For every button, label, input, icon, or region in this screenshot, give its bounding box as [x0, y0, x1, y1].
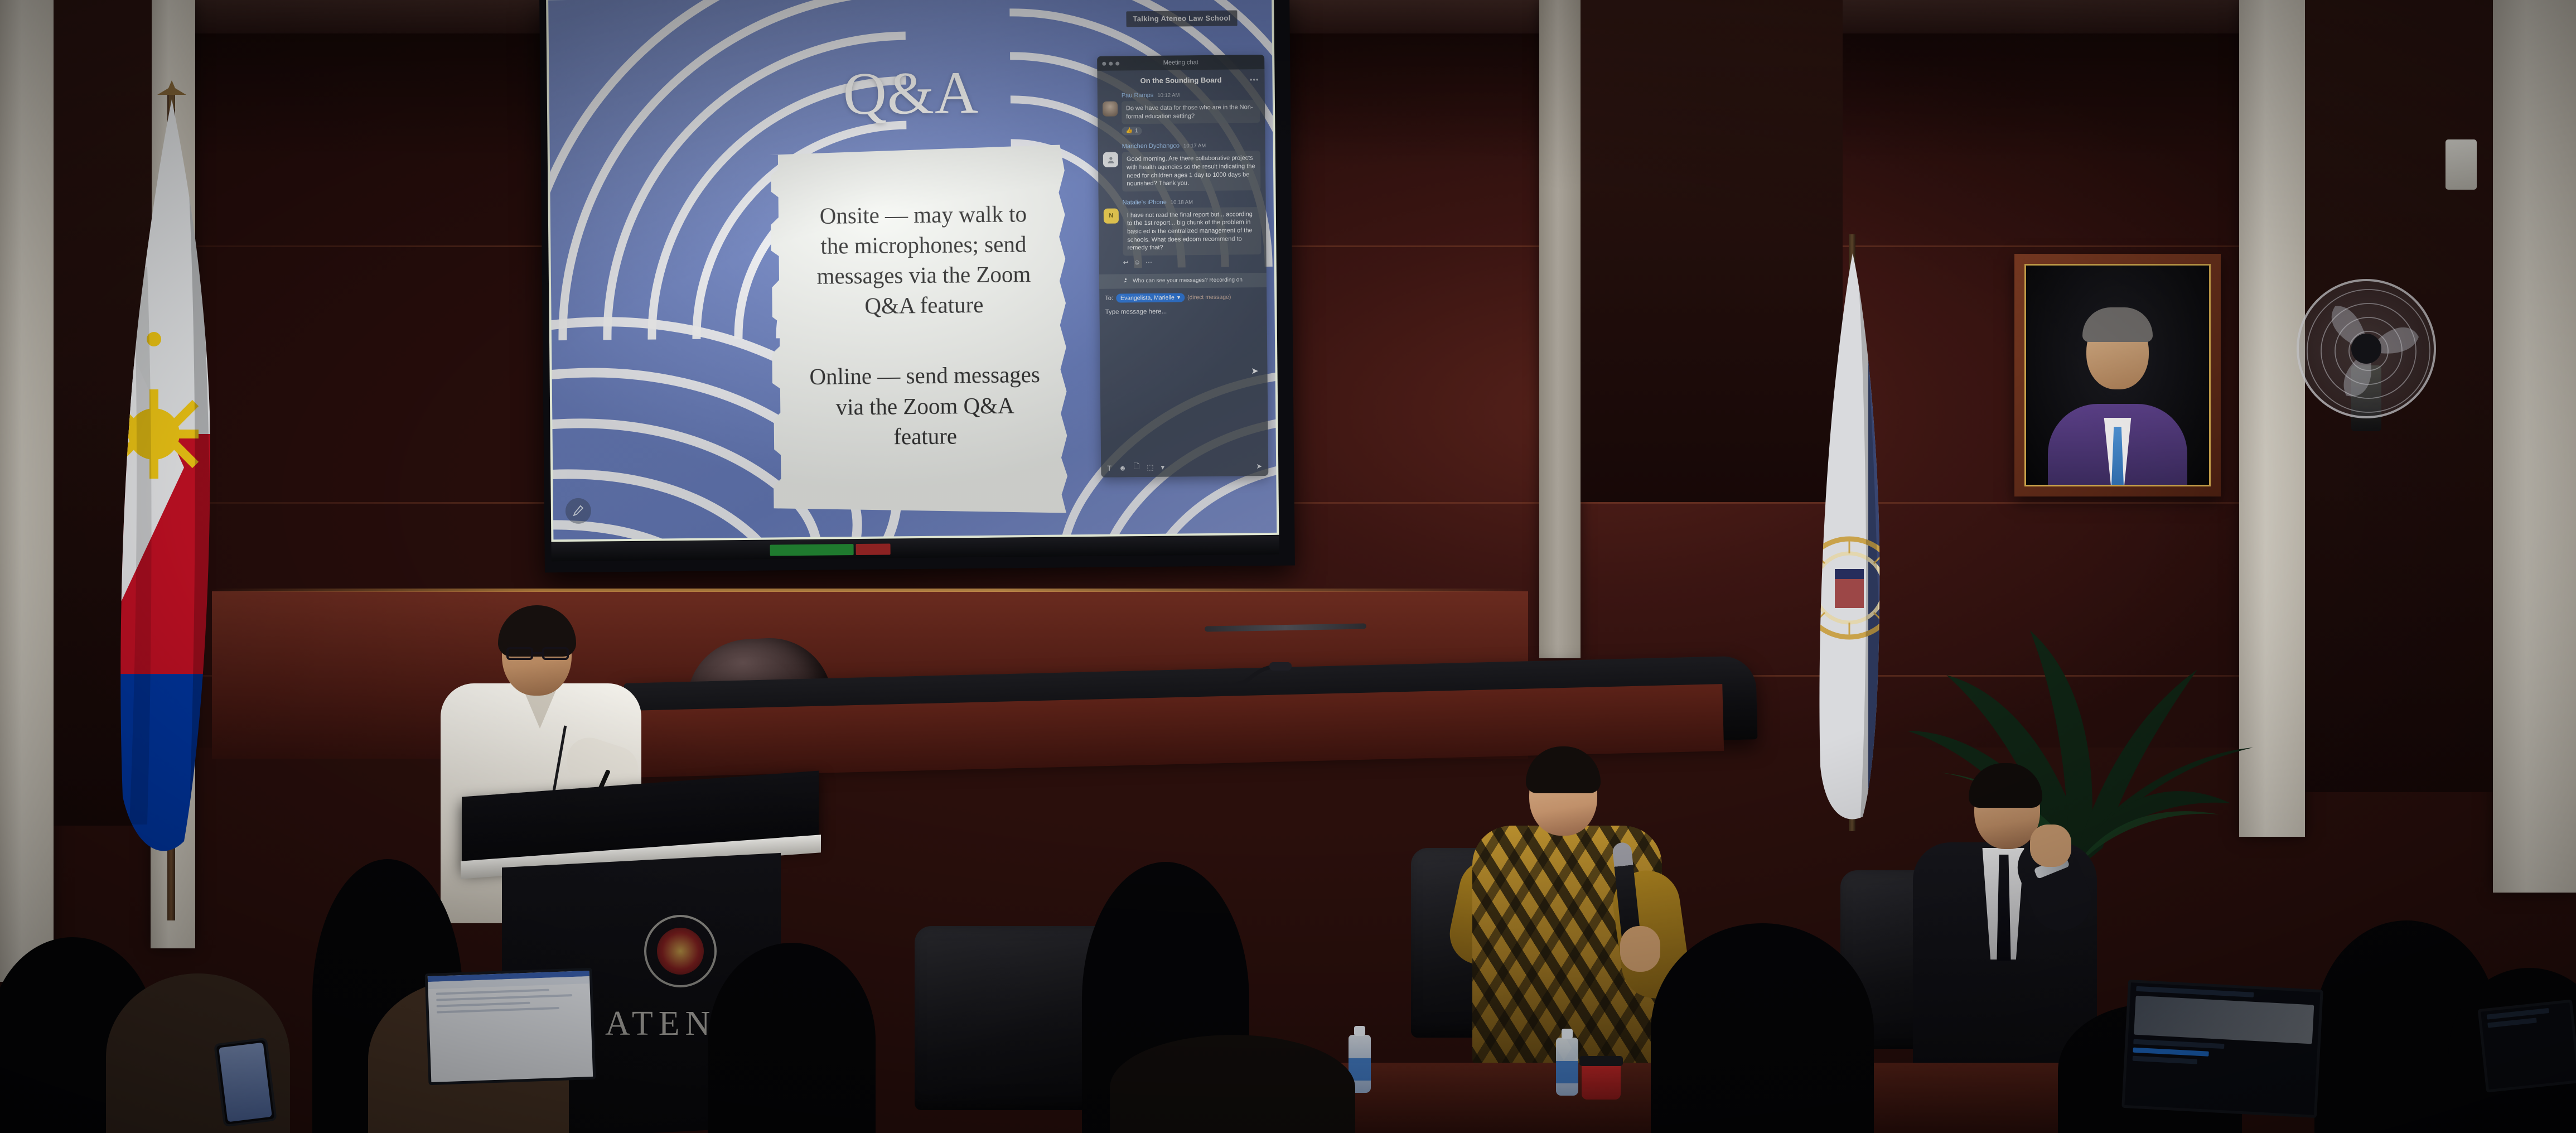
document-text-line	[437, 1002, 530, 1007]
chat-message-text: Good morning. Are there collaborative pr…	[1122, 151, 1261, 191]
privacy-icon	[1123, 277, 1129, 285]
react-icon[interactable]: ☺	[1134, 258, 1140, 266]
recipient-name: Evangelista, Marielle	[1120, 294, 1175, 301]
chat-message: Natalie's iPhone 10:18 AM N I have not r…	[1104, 198, 1262, 267]
direct-message-note: (direct message)	[1187, 293, 1231, 301]
projection-screen: Talking Ateneo Law School Q&A Onsite — m…	[546, 0, 1279, 542]
chat-message-text: Do we have data for those who are in the…	[1122, 100, 1260, 124]
document-text-line	[437, 1007, 559, 1014]
zoom-chat-channel-header: On the Sounding Board •••	[1097, 69, 1264, 90]
emoji-icon[interactable]: ☻	[1119, 464, 1127, 472]
cup-lid	[1579, 1056, 1623, 1066]
avatar	[1103, 102, 1118, 117]
zoom-chat-channel-name: On the Sounding Board	[1140, 76, 1222, 85]
smartphone[interactable]	[214, 1038, 277, 1127]
pilaster-center-right	[1539, 0, 1581, 658]
fan-hub	[2351, 334, 2381, 364]
presentation-slide: Talking Ateneo Law School Q&A Onsite — m…	[548, 0, 1277, 539]
broadcast-selected-source	[2133, 1048, 2208, 1057]
broadcast-sources-row	[2133, 1039, 2224, 1049]
audience-laptop-left[interactable]	[425, 968, 596, 1085]
thumbs-up-icon: 👍	[1125, 128, 1133, 134]
eyeglasses-icon	[506, 646, 569, 660]
more-icon[interactable]: ⋯	[1146, 258, 1152, 266]
chat-message-actions[interactable]: ↩ ☺ ⋯	[1123, 257, 1262, 266]
bench-gold-trim	[212, 589, 1528, 592]
phone-screen[interactable]	[219, 1043, 272, 1122]
pilaster-far-right	[2493, 0, 2576, 893]
panelist-one-hand	[1620, 926, 1660, 972]
wall-speaker	[2445, 139, 2477, 190]
wall-fan-icon	[2297, 279, 2436, 418]
audience-laptop-right[interactable]	[2121, 980, 2323, 1118]
chat-sender-name: Pau Ramps	[1122, 92, 1154, 99]
panelist-two-hand	[2030, 825, 2071, 867]
chat-sender-name: Natalie's iPhone	[1123, 199, 1167, 206]
note-line-onsite: Onsite — may walk to the microphones; se…	[804, 199, 1043, 322]
person-privacy-icon	[1123, 277, 1129, 283]
chat-recipient-row[interactable]: To: Evangelista, Marielle ▾ (direct mess…	[1105, 292, 1261, 303]
recipient-pill[interactable]: Evangelista, Marielle ▾	[1116, 293, 1185, 302]
send-icon[interactable]: ➤	[1256, 462, 1262, 471]
pen-annotate-icon[interactable]	[566, 498, 591, 524]
bottle-label	[1556, 1061, 1578, 1083]
avatar: N	[1104, 208, 1119, 223]
zoom-chat-window[interactable]: Meeting chat On the Sounding Board ••• P…	[1097, 55, 1268, 478]
zoom-chat-titlebar: Meeting chat	[1097, 55, 1264, 71]
chat-timestamp: 10:18 AM	[1171, 199, 1193, 205]
chevron-down-icon[interactable]: ▾	[1177, 294, 1180, 301]
ellipsis-icon[interactable]: •••	[1250, 75, 1259, 84]
screen-row	[2487, 1008, 2549, 1020]
reaction-count: 1	[1135, 128, 1138, 134]
person-icon	[1106, 155, 1115, 164]
screen-row	[2487, 1018, 2536, 1028]
portrait-mat	[2024, 264, 2211, 486]
pen-icon	[572, 504, 585, 518]
water-bottle	[1556, 1038, 1578, 1096]
pilaster-far-left	[0, 0, 54, 982]
projection-screen-housing: Talking Ateneo Law School Q&A Onsite — m…	[539, 0, 1295, 572]
chat-sender-name: Marichen Dychangco	[1122, 143, 1180, 150]
chat-compose-toolbar[interactable]: T ☻ 🗋 ⬚ ▾ ➤	[1101, 457, 1268, 478]
philippine-flag	[100, 84, 245, 920]
ateneo-seal	[644, 915, 717, 987]
avatar	[1103, 152, 1118, 167]
chat-compose-area[interactable]: To: Evangelista, Marielle ▾ (direct mess…	[1099, 287, 1267, 319]
chat-timestamp: 10:12 AM	[1157, 92, 1180, 98]
chat-message-text: I have not read the final report but... …	[1123, 207, 1262, 256]
file-icon[interactable]: 🗋	[1134, 461, 1140, 474]
audience-laptop-far-right[interactable]	[2478, 1000, 2576, 1093]
chat-privacy-notice[interactable]: Who can see your messages? Recording on	[1099, 273, 1267, 289]
reaction-chip[interactable]: 👍 1	[1122, 127, 1142, 135]
rail-sticker-red	[856, 543, 891, 555]
broadcast-preview-pane	[2134, 996, 2314, 1044]
zoom-chat-message-list[interactable]: Pau Ramps 10:12 AM Do we have data for t…	[1098, 89, 1267, 267]
chat-message: Marichen Dychangco 10:17 AM Good morning…	[1103, 142, 1261, 191]
chevron-down-icon[interactable]: ▾	[1161, 463, 1165, 472]
zoom-chat-window-title: Meeting chat	[1097, 59, 1264, 67]
chat-privacy-text: Who can see your messages? Recording on	[1133, 277, 1243, 285]
chat-reactions[interactable]: 👍 1	[1122, 126, 1260, 135]
lecture-hall-scene: Talking Ateneo Law School Q&A Onsite — m…	[0, 0, 2576, 1133]
broadcast-row	[2133, 1056, 2197, 1064]
screenshot-icon[interactable]: ⬚	[1147, 463, 1153, 472]
slide-watermark-text: Talking Ateneo Law School	[1133, 14, 1230, 23]
cursor-pointer-icon: ➤	[1251, 365, 1259, 377]
to-label: To:	[1105, 295, 1113, 302]
palm-fronds-icon	[1857, 491, 2281, 881]
reply-icon[interactable]: ↩	[1123, 258, 1129, 266]
slide-watermark: Talking Ateneo Law School	[1126, 10, 1237, 27]
toolbar-spacer	[1172, 466, 1249, 467]
seal-emblem	[657, 928, 704, 975]
chat-timestamp: 10:17 AM	[1183, 143, 1206, 149]
audience-shoulders	[1110, 1035, 1355, 1133]
audience-head	[1651, 923, 1874, 1133]
framed-portrait	[2014, 254, 2221, 496]
audience-head	[708, 943, 876, 1133]
broadcast-menubar	[2136, 986, 2254, 997]
document-text-line	[436, 989, 549, 995]
document-text-line	[436, 994, 572, 1001]
torn-paper-note: Onsite — may walk to the microphones; se…	[769, 144, 1071, 515]
chat-message: Pau Ramps 10:12 AM Do we have data for t…	[1103, 91, 1260, 136]
note-line-online: Online — send messages via the Zoom Q&A …	[805, 359, 1045, 452]
chat-message-input[interactable]: Type message here...	[1105, 307, 1261, 316]
coffee-cup	[1582, 1063, 1621, 1100]
potted-palm	[1857, 491, 2281, 881]
rail-sticker-green	[770, 544, 854, 556]
gooseneck-microphone-icon	[1233, 661, 1316, 684]
format-text-icon[interactable]: T	[1107, 464, 1111, 472]
